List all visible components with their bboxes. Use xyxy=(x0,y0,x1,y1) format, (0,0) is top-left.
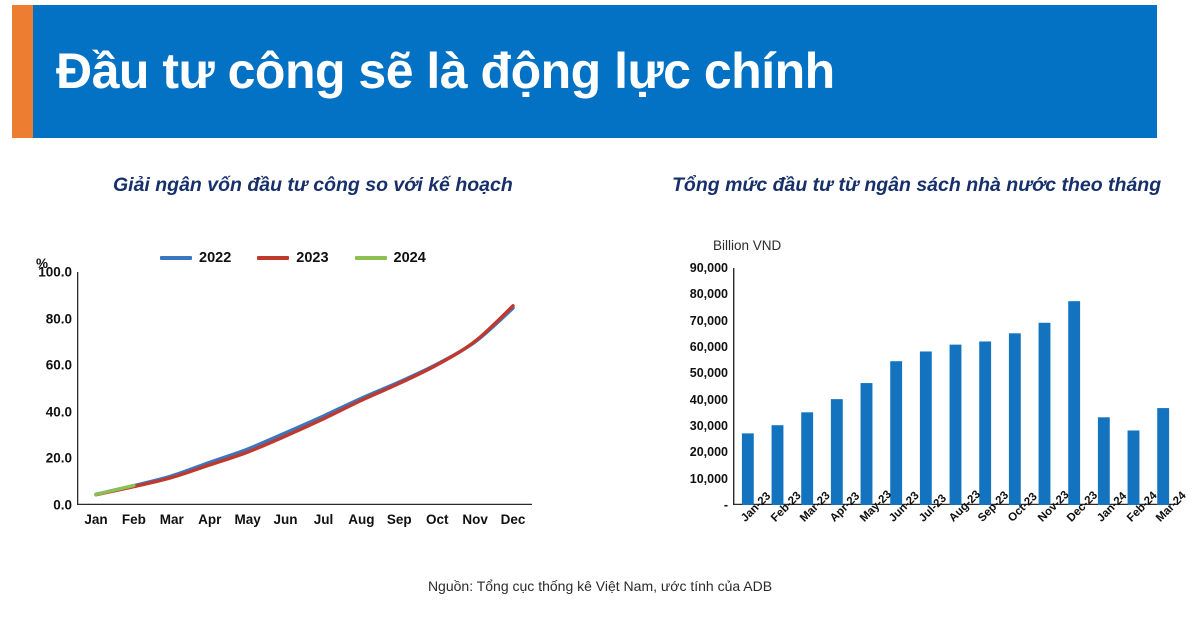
line-chart-x-tick: Jun xyxy=(274,512,298,527)
line-chart-y-tick: 80.0 xyxy=(14,311,72,326)
legend-item-2023[interactable]: 2023 xyxy=(257,250,328,266)
line-chart-y-axis-labels: 0.020.040.060.080.0100.0 xyxy=(10,272,72,505)
line-chart-x-tick: Mar xyxy=(160,512,184,527)
bar-chart-svg xyxy=(733,268,1178,505)
bar-chart-y-tick: 90,000 xyxy=(650,261,728,275)
line-chart-plot-area xyxy=(77,272,532,505)
line-chart-y-tick: 40.0 xyxy=(14,404,72,419)
bar-chart-y-tick: 20,000 xyxy=(650,445,728,459)
legend-swatch-2022 xyxy=(160,256,192,260)
line-chart-x-axis-labels: JanFebMarAprMayJunJulAugSepOctNovDec xyxy=(77,510,532,530)
line-chart-title: Giải ngân vốn đầu tư công so với kế hoạc… xyxy=(113,174,513,197)
bar-chart-panel: Tổng mức đầu tư từ ngân sách nhà nước th… xyxy=(600,160,1200,560)
line-chart-x-tick: Aug xyxy=(348,512,374,527)
line-chart-x-tick: Jan xyxy=(84,512,107,527)
line-chart-x-tick: Jul xyxy=(314,512,334,527)
legend-label-2023: 2023 xyxy=(296,250,328,266)
bar-chart-x-axis-labels: Jan-23Feb-23Mar-23Apr-23May-23Jun-23Jul-… xyxy=(733,508,1178,568)
line-chart-svg xyxy=(77,272,532,505)
line-chart-x-tick: Dec xyxy=(501,512,526,527)
line-chart-y-tick: 60.0 xyxy=(14,358,72,373)
line-chart-panel: Giải ngân vốn đầu tư công so với kế hoạc… xyxy=(0,160,600,560)
legend-item-2022[interactable]: 2022 xyxy=(160,250,231,266)
title-banner: Đầu tư công sẽ là động lực chính xyxy=(12,5,1157,138)
line-chart-y-tick: 20.0 xyxy=(14,451,72,466)
slide-title: Đầu tư công sẽ là động lực chính xyxy=(56,41,835,99)
bar-chart-title: Tổng mức đầu tư từ ngân sách nhà nước th… xyxy=(672,174,1161,197)
line-chart-x-tick: Apr xyxy=(198,512,221,527)
legend-item-2024[interactable]: 2024 xyxy=(355,250,426,266)
bar-chart-y-tick: 50,000 xyxy=(650,366,728,380)
title-accent-bar xyxy=(12,5,33,138)
bar-chart-y-tick: 60,000 xyxy=(650,340,728,354)
bar-chart-plot-area xyxy=(733,268,1178,505)
line-chart-y-tick: 100.0 xyxy=(14,265,72,280)
legend-label-2024: 2024 xyxy=(394,250,426,266)
bar-chart-y-tick: 70,000 xyxy=(650,314,728,328)
legend-label-2022: 2022 xyxy=(199,250,231,266)
bar-chart-y-tick: - xyxy=(650,498,728,512)
line-chart-x-tick: Feb xyxy=(122,512,146,527)
line-chart-y-tick: 0.0 xyxy=(14,498,72,513)
bar-chart-y-tick: 10,000 xyxy=(650,472,728,486)
line-chart-x-tick: May xyxy=(234,512,260,527)
line-chart-x-tick: Oct xyxy=(426,512,449,527)
bar-chart-y-tick: 30,000 xyxy=(650,419,728,433)
line-chart-x-tick: Nov xyxy=(462,512,488,527)
legend-swatch-2023 xyxy=(257,256,289,260)
bar-chart-y-tick: 40,000 xyxy=(650,393,728,407)
source-note: Nguồn: Tổng cục thống kê Việt Nam, ước t… xyxy=(0,578,1200,594)
bar-chart-y-tick: 80,000 xyxy=(650,287,728,301)
bar-chart-y-axis-labels: -10,00020,00030,00040,00050,00060,00070,… xyxy=(648,268,728,505)
line-chart-legend: 202220232024 xyxy=(160,250,426,266)
line-chart-x-tick: Sep xyxy=(387,512,412,527)
bar-chart-y-axis-unit: Billion VND xyxy=(713,238,781,253)
legend-swatch-2024 xyxy=(355,256,387,260)
